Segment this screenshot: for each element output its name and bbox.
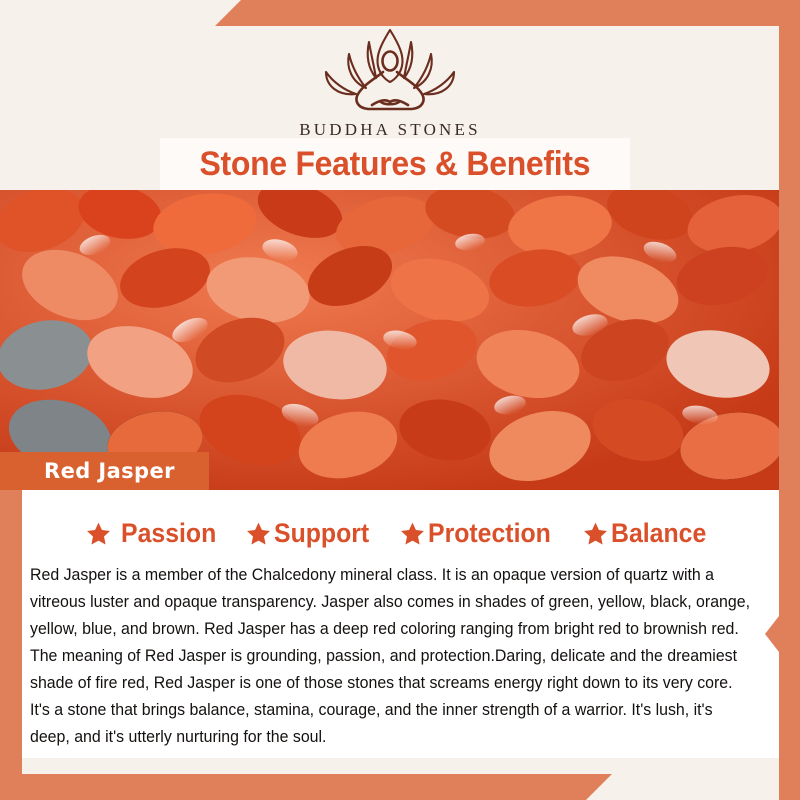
star-icon — [86, 521, 111, 546]
stone-photo-graphic — [0, 190, 780, 490]
header-section: BUDDHA STONES Stone Features & Benefits — [0, 0, 780, 190]
benefit-item-support: Support — [246, 518, 377, 549]
bottom-orange-band — [0, 774, 612, 800]
benefit-item-passion: Passion — [86, 518, 225, 549]
lotus-meditation-icon — [306, 22, 474, 118]
brand-name: BUDDHA STONES — [290, 120, 490, 140]
title-banner: Stone Features & Benefits — [160, 138, 630, 190]
right-orange-band — [779, 0, 800, 800]
star-icon — [400, 521, 425, 546]
benefit-label: Protection — [428, 518, 551, 549]
stone-description: Red Jasper is a member of the Chalcedony… — [30, 562, 753, 751]
stone-name-banner: Red Jasper — [0, 452, 209, 490]
brand-logo: BUDDHA STONES — [290, 22, 490, 140]
star-icon — [583, 521, 608, 546]
benefit-item-protection: Protection — [400, 518, 562, 549]
stone-photo — [0, 190, 780, 490]
benefit-item-balance: Balance — [583, 518, 715, 549]
page-title: Stone Features & Benefits — [200, 145, 591, 184]
star-icon — [246, 521, 271, 546]
stone-name: Red Jasper — [44, 459, 175, 483]
benefit-label: Support — [274, 518, 369, 549]
benefit-label: Passion — [121, 518, 216, 549]
benefit-label: Balance — [611, 518, 706, 549]
top-orange-band — [215, 0, 800, 26]
left-orange-band — [0, 470, 22, 800]
infographic-page: BUDDHA STONES Stone Features & Benefits — [0, 0, 800, 800]
benefits-row: Passion Support Protection Balance — [22, 518, 779, 549]
